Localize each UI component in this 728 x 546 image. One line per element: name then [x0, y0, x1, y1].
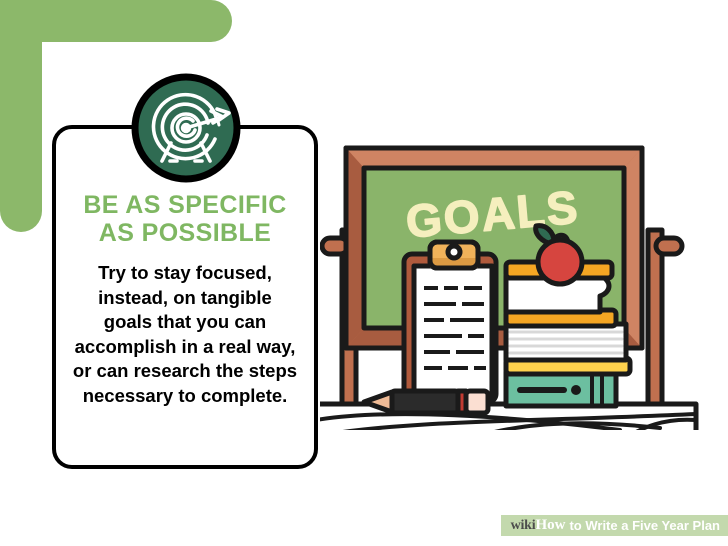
pencil-icon	[364, 391, 488, 413]
wikihow-watermark: wiki How to Write a Five Year Plan	[501, 515, 728, 536]
book-white-lined	[506, 324, 626, 360]
card-heading: BE AS SPECIFIC AS POSSIBLE	[68, 191, 302, 247]
watermark-how: How	[535, 517, 565, 534]
watermark-wiki: wiki	[511, 518, 536, 534]
target-bullseye-icon	[131, 73, 241, 183]
book-teal-bottom	[506, 372, 616, 406]
clipboard-icon	[404, 242, 496, 402]
watermark-title: to Write a Five Year Plan	[569, 518, 720, 533]
image-canvas: GOALS	[0, 0, 728, 546]
classroom-chalkboard-illustration: GOALS	[320, 130, 720, 430]
card-body-text: Try to stay focused, instead, on tangibl…	[68, 261, 302, 408]
corner-bracket-vertical-arm	[0, 0, 42, 232]
info-card-content: BE AS SPECIFIC AS POSSIBLE Try to stay f…	[56, 191, 314, 408]
